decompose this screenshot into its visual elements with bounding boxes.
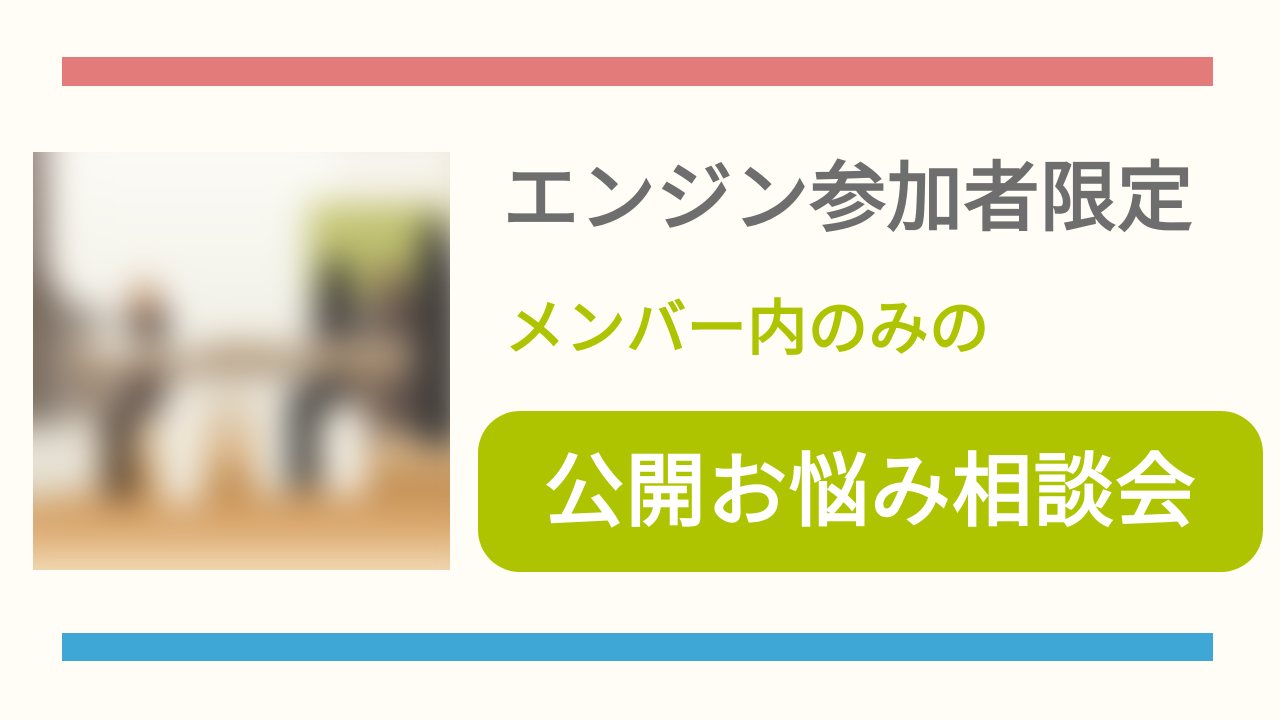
- photo-foreground-bokeh: [65, 414, 98, 495]
- photo-foreground-bokeh: [323, 404, 366, 495]
- photo-person-head: [323, 256, 349, 294]
- main-title-pill: 公開お悩み相談会: [478, 411, 1263, 572]
- photo-person-head: [132, 280, 156, 316]
- photo-person-head: [423, 218, 447, 251]
- photo-papers: [89, 332, 141, 356]
- meeting-photo: [33, 152, 450, 570]
- slide-canvas: エンジン参加者限定 メンバー内のみの 公開お悩み相談会: [0, 0, 1280, 720]
- photo-standing-person-silhouette: [413, 232, 450, 447]
- photo-foreground-bokeh: [160, 385, 203, 505]
- top-red-rule: [62, 57, 1213, 86]
- headline-line-2: メンバー内のみの: [505, 298, 1265, 360]
- photo-papers: [160, 337, 203, 356]
- photo-foreground-bokeh: [289, 385, 318, 490]
- main-title-text: 公開お悩み相談会: [544, 452, 1197, 532]
- photo-papers: [275, 328, 308, 352]
- photo-foreground-bokeh: [256, 380, 289, 495]
- photo-foreground-bokeh: [108, 404, 132, 500]
- headline-line-1: エンジン参加者限定: [503, 160, 1263, 238]
- photo-person-head: [375, 261, 401, 299]
- photo-floor-highlight: [33, 538, 450, 570]
- meeting-photo-blur-layer: [33, 152, 450, 570]
- bottom-blue-rule: [62, 633, 1213, 661]
